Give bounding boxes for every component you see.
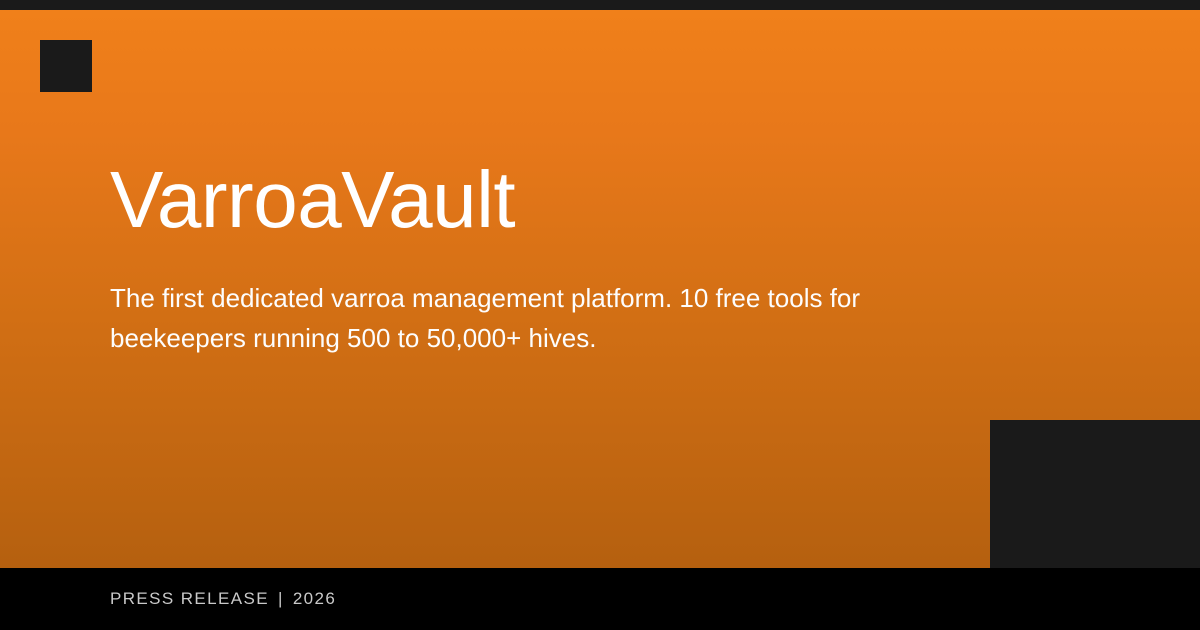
dark-accent-block: [990, 420, 1200, 568]
footer-label: PRESS RELEASE: [110, 589, 269, 609]
footer-bar: PRESS RELEASE | 2026: [0, 568, 1200, 630]
hero-panel: VarroaVault The first dedicated varroa m…: [0, 10, 1200, 568]
square-logo-mark: [40, 40, 92, 92]
press-release-slide: VarroaVault The first dedicated varroa m…: [0, 0, 1200, 630]
top-accent-bar: [0, 0, 1200, 10]
hero-subtitle: The first dedicated varroa management pl…: [110, 240, 950, 358]
page-title: VarroaVault: [110, 160, 970, 240]
footer-meta: PRESS RELEASE | 2026: [110, 568, 336, 630]
footer-year: 2026: [293, 589, 336, 609]
hero-content: VarroaVault The first dedicated varroa m…: [110, 160, 970, 358]
footer-separator: |: [269, 589, 293, 609]
